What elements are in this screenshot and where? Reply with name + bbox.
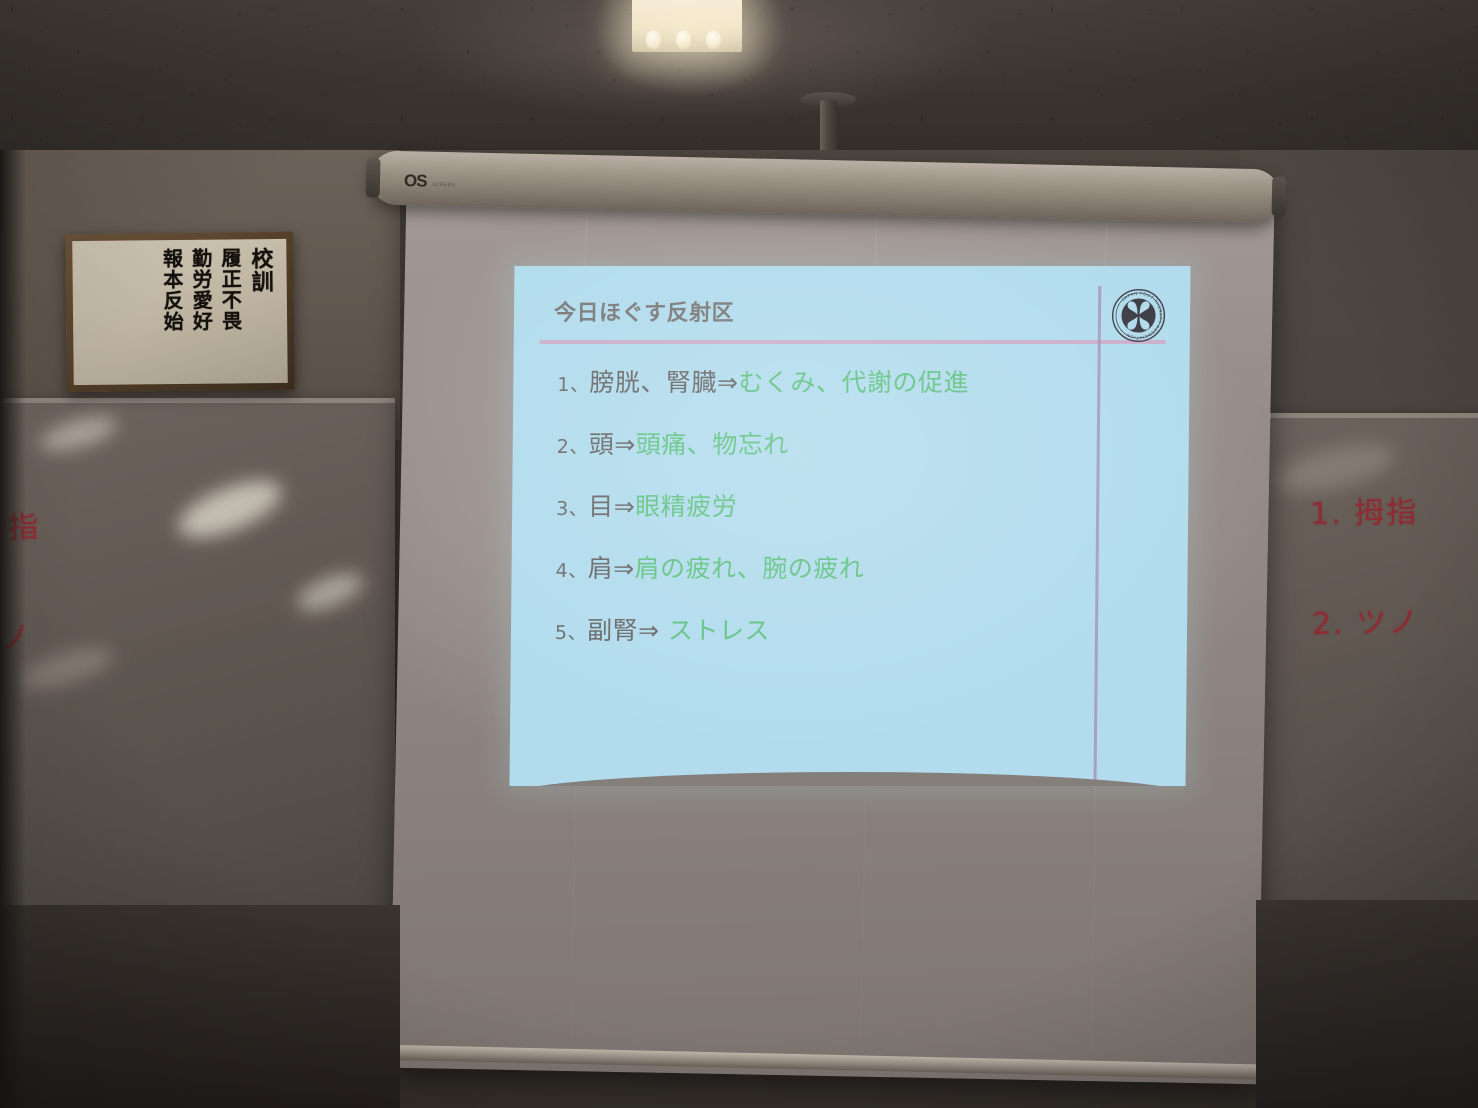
framed-calligraphy: 校訓 履正不畏 勤労愛好 報本反始 — [65, 232, 295, 392]
calligraphy-mat: 校訓 履正不畏 勤労愛好 報本反始 — [72, 239, 287, 385]
housing-end-cap-left — [366, 157, 381, 197]
calligraphy-column-4: 報本反始 — [159, 248, 183, 332]
light-bulb — [646, 30, 661, 49]
slide-line-3: 3、目⇒眼精疲労 — [556, 494, 1076, 519]
whiteboard-right[interactable]: 1. 拇指 2. ツノ — [1256, 413, 1478, 918]
calligraphy-column-2: 履正不畏 — [218, 247, 242, 331]
lower-right-shadow — [1256, 900, 1478, 1108]
slide-line-4-effect: 肩の疲れ、腕の疲れ — [634, 554, 864, 583]
os-brand-sublabel: SCREEN — [432, 182, 456, 188]
housing-end-cap-right — [1271, 176, 1286, 216]
whiteboard-left[interactable]: 拇指 ツノ — [0, 398, 395, 923]
ceiling-light-fixture — [632, 0, 742, 52]
slide-line-4-organ: 肩⇒ — [588, 554, 635, 583]
slide-line-4-number: 4、 — [555, 560, 587, 582]
slide-title: 今日ほぐす反射区 — [554, 295, 734, 327]
slide-line-5-effect: ストレス — [668, 616, 770, 645]
slide-bottom-edge — [509, 772, 1190, 786]
slide-vertical-rule — [1094, 286, 1102, 786]
slide-line-1-organ: 膀胱、腎臓⇒ — [589, 368, 738, 397]
os-brand-logo: OS — [404, 171, 427, 191]
calligraphy-column-1: 校訓 — [247, 247, 273, 293]
whiteboard-right-note-1: 1. 拇指 — [1310, 487, 1419, 533]
slide-line-1-number: 1、 — [557, 374, 589, 396]
whiteboard-right-note-2: 2. ツノ — [1312, 597, 1421, 643]
lower-left-shadow — [0, 905, 400, 1108]
slide-line-5: 5、副腎⇒ ストレス — [555, 618, 1075, 643]
slide-header-rule — [540, 340, 1166, 344]
whiteboard-glare — [292, 566, 367, 618]
slide-line-3-organ: 目⇒ — [588, 492, 635, 521]
whiteboard-left-note-2: ツノ — [0, 612, 33, 658]
whiteboard-glare — [18, 639, 118, 697]
slide-line-2: 2、頭⇒頭痛、物忘れ — [557, 432, 1077, 457]
projected-slide: 今日ほぐす反射区 JAPAN FOOT THERAPY ASSOCIATION — [509, 266, 1190, 786]
slide-line-3-effect: 眼精疲労 — [635, 492, 737, 521]
slide-line-2-effect: 頭痛、物忘れ — [636, 430, 789, 459]
whiteboard-glare — [36, 410, 120, 457]
slide-line-4: 4、肩⇒肩の疲れ、腕の疲れ — [555, 556, 1075, 581]
light-bulb — [706, 30, 721, 49]
whiteboard-glare — [171, 469, 289, 549]
slide-line-2-number: 2、 — [557, 436, 589, 458]
slide-line-3-number: 3、 — [556, 498, 588, 520]
slide-line-2-organ: 頭⇒ — [589, 430, 636, 459]
whiteboard-left-note-1: 拇指 — [0, 502, 41, 548]
classroom-scene: 校訓 履正不畏 勤労愛好 報本反始 拇指 ツノ 1. 拇指 2. ツノ 今日ほぐ… — [0, 0, 1478, 1108]
clover-seal-logo: JAPAN FOOT THERAPY ASSOCIATION — [1111, 288, 1167, 343]
slide-body-lines: 1、膀胱、腎臓⇒むくみ、代謝の促進 2、頭⇒頭痛、物忘れ 3、目⇒眼精疲労 4、… — [555, 370, 1078, 680]
slide-line-5-organ: 副腎⇒ — [587, 616, 668, 645]
slide-line-5-number: 5、 — [555, 622, 587, 644]
calligraphy-column-3: 勤労愛好 — [188, 248, 212, 332]
slide-line-1-effect: むくみ、代謝の促進 — [738, 368, 969, 397]
slide-line-1: 1、膀胱、腎臓⇒むくみ、代謝の促進 — [557, 370, 1077, 395]
light-bulb — [676, 30, 691, 49]
